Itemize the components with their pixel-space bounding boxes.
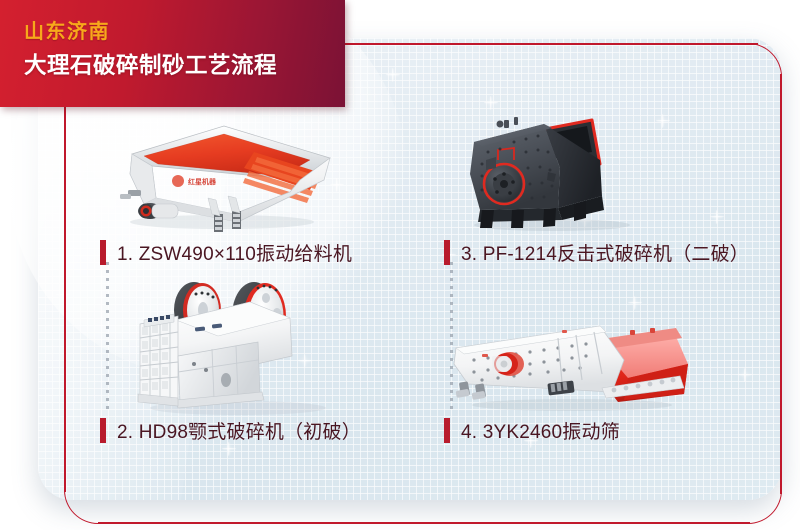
caption-label-2: 2. HD98颚式破碎机（初破）	[117, 417, 361, 444]
banner-title: 大理石破碎制砂工艺流程	[24, 50, 277, 82]
machine-image-jaw-crusher	[132, 272, 347, 417]
poster-canvas: 山东济南 大理石破碎制砂工艺流程	[0, 0, 800, 530]
frame-border-bottom	[98, 522, 750, 524]
caption-item-1: 1. ZSW490×110振动给料机	[100, 239, 352, 266]
caption-item-3: 3. PF-1214反击式破碎机（二破）	[444, 239, 749, 266]
frame-corner-bottom-right	[748, 490, 782, 524]
caption-label-1: 1. ZSW490×110振动给料机	[117, 239, 352, 266]
caption-accent-bar	[100, 418, 106, 443]
caption-accent-bar	[444, 418, 450, 443]
machine-image-vibrating-feeder: 红星机器	[104, 118, 334, 233]
frame-border-top	[342, 43, 758, 45]
machine-image-impact-crusher	[452, 112, 652, 232]
caption-item-2: 2. HD98颚式破碎机（初破）	[100, 417, 361, 444]
machine-image-vibrating-screen	[452, 302, 697, 412]
frame-corner-top-right	[748, 43, 782, 77]
caption-label-3: 3. PF-1214反击式破碎机（二破）	[461, 239, 749, 266]
frame-border-left	[64, 106, 66, 492]
frame-corner-bottom-left	[64, 490, 98, 524]
connector-dotted-left	[106, 262, 109, 414]
svg-text:红星机器: 红星机器	[188, 177, 217, 186]
banner-subtitle: 山东济南	[24, 19, 277, 45]
caption-label-4: 4. 3YK2460振动筛	[461, 417, 620, 444]
caption-item-4: 4. 3YK2460振动筛	[444, 417, 620, 444]
caption-accent-bar	[100, 240, 106, 265]
caption-accent-bar	[444, 240, 450, 265]
header-banner: 山东济南 大理石破碎制砂工艺流程	[0, 0, 345, 107]
frame-border-right	[780, 74, 782, 494]
